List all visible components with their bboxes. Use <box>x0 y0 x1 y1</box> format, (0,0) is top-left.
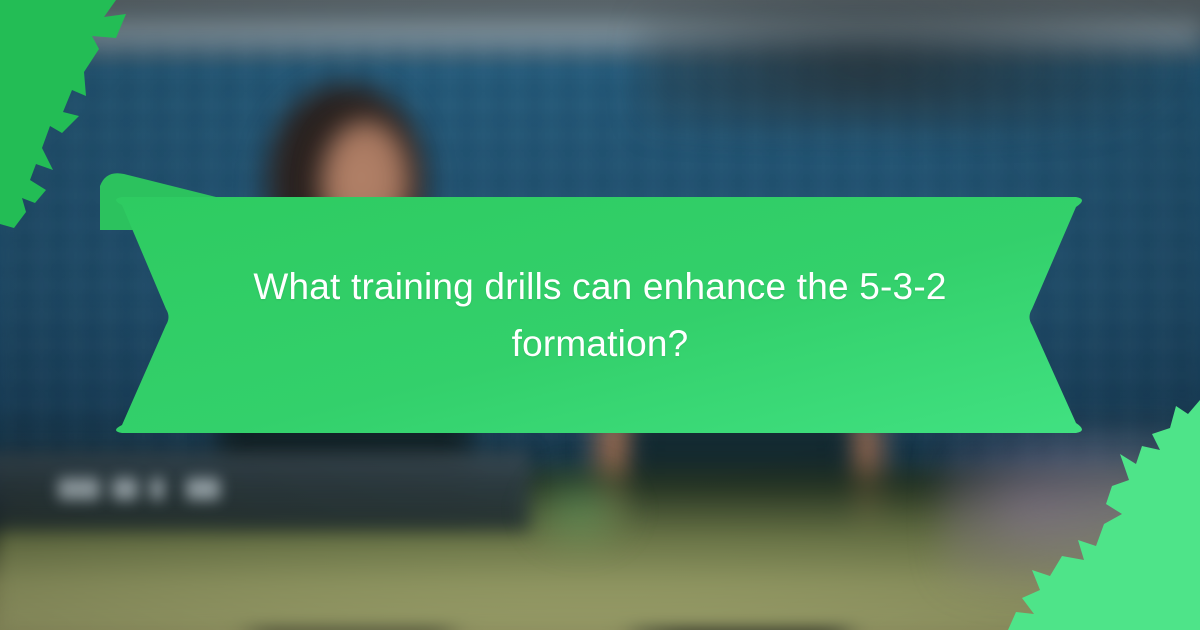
banner-canvas: What training drills can enhance the 5-3… <box>0 0 1200 630</box>
torn-corner-bottom-right-icon <box>1000 400 1200 630</box>
question-text: What training drills can enhance the 5-3… <box>150 197 1050 433</box>
